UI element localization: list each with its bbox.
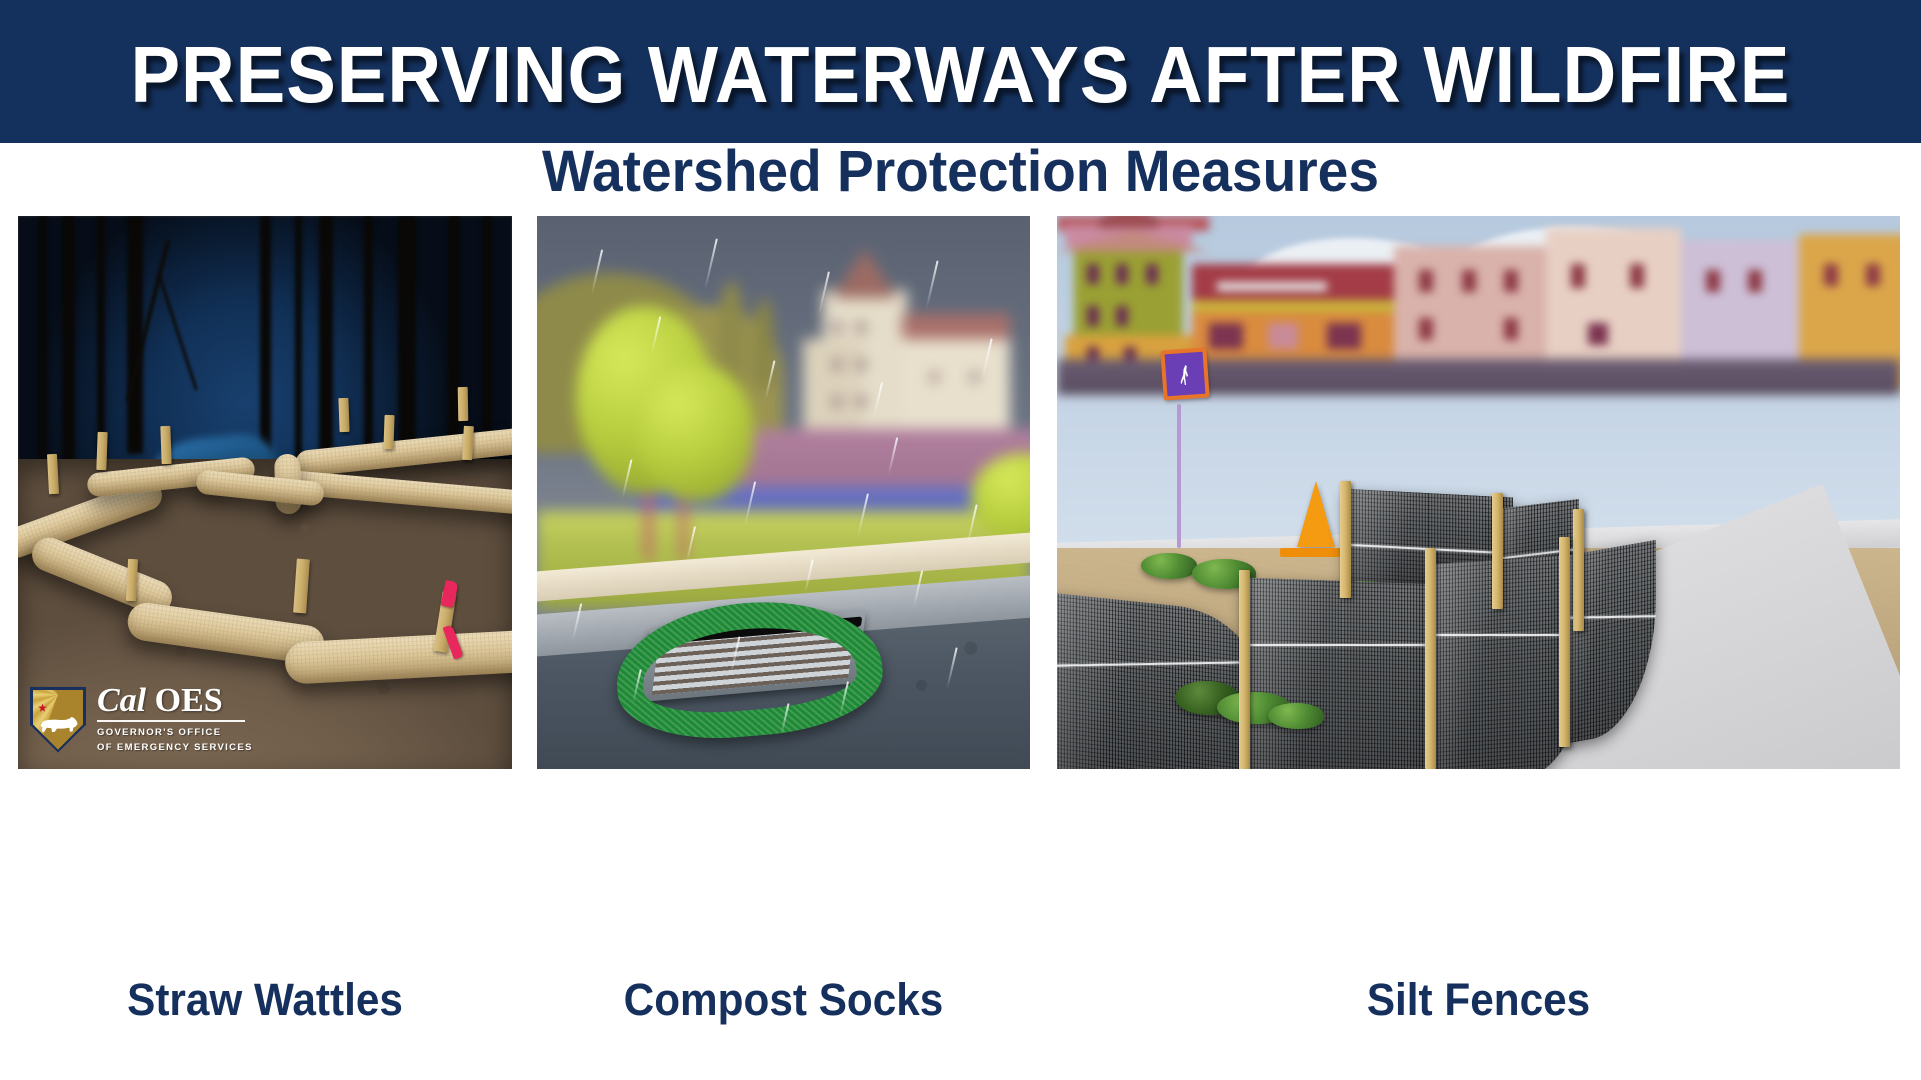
window bbox=[1706, 270, 1720, 292]
tree-trunk bbox=[260, 216, 271, 470]
panel-straw-wattles: Cal OES GOVERNOR'S OFFICE OF EMERGENCY S… bbox=[18, 216, 512, 769]
window bbox=[1504, 270, 1518, 292]
tree-trunk bbox=[38, 216, 47, 470]
wattle-stake bbox=[96, 431, 107, 469]
panel-compost-socks bbox=[537, 216, 1030, 769]
silt-fence-panel bbox=[1428, 554, 1580, 769]
fence-stake bbox=[1573, 509, 1584, 631]
window bbox=[1571, 264, 1585, 288]
window bbox=[1462, 270, 1476, 292]
tree-trunk bbox=[364, 216, 373, 459]
logo-wordmark-cal: Cal bbox=[97, 682, 146, 719]
fence-stake bbox=[1340, 481, 1351, 597]
conifer bbox=[754, 298, 774, 388]
window bbox=[1209, 323, 1243, 349]
window bbox=[971, 372, 978, 382]
logo-wordmark-oes: OES bbox=[155, 682, 223, 719]
fence-stake bbox=[1425, 548, 1436, 769]
logo-wordmark: Cal OES bbox=[97, 684, 253, 717]
window bbox=[1268, 323, 1298, 349]
wattle-stake bbox=[47, 454, 59, 494]
logo-tagline-line2: OF EMERGENCY SERVICES bbox=[97, 742, 253, 755]
window bbox=[931, 372, 938, 382]
sign-post bbox=[1177, 404, 1181, 548]
wattle-stake bbox=[383, 415, 394, 449]
sign-board bbox=[1217, 282, 1327, 291]
window bbox=[1116, 264, 1128, 284]
building-turret bbox=[1099, 216, 1158, 228]
tree-trunk bbox=[482, 216, 492, 459]
tree-trunk bbox=[127, 216, 143, 454]
window bbox=[1116, 306, 1128, 326]
wattle-stake bbox=[126, 559, 138, 601]
window bbox=[1327, 323, 1361, 349]
window bbox=[857, 322, 865, 333]
wattle-stake bbox=[462, 426, 474, 460]
window bbox=[1504, 318, 1518, 340]
header-banner: PRESERVING WATERWAYS AFTER WILDFIRE bbox=[0, 0, 1921, 143]
roof bbox=[833, 249, 897, 298]
window bbox=[1087, 264, 1099, 284]
page-title: PRESERVING WATERWAYS AFTER WILDFIRE bbox=[131, 29, 1791, 115]
illustration-straw-wattles: Cal OES GOVERNOR'S OFFICE OF EMERGENCY S… bbox=[18, 216, 512, 769]
building bbox=[803, 339, 862, 441]
tree-trunk bbox=[319, 216, 333, 476]
wattle-stake bbox=[161, 426, 172, 464]
window bbox=[833, 322, 841, 333]
illustration-compost-socks bbox=[537, 216, 1030, 769]
tree-trunk bbox=[97, 216, 105, 459]
shrub bbox=[1268, 703, 1324, 729]
window bbox=[1146, 264, 1158, 284]
window bbox=[1824, 264, 1838, 286]
wattle-stake bbox=[339, 398, 350, 432]
window bbox=[1087, 306, 1099, 326]
window bbox=[1419, 270, 1433, 292]
pedestrian-crossing-sign bbox=[1161, 347, 1210, 400]
cal-oes-logo: Cal OES GOVERNOR'S OFFICE OF EMERGENCY S… bbox=[30, 684, 253, 755]
illustration-silt-fences bbox=[1057, 216, 1900, 769]
fence-stake bbox=[1559, 537, 1570, 747]
tree-trunk bbox=[448, 216, 460, 465]
window bbox=[833, 359, 841, 370]
window bbox=[1748, 270, 1762, 292]
door bbox=[1588, 323, 1608, 345]
roof bbox=[902, 314, 1010, 339]
shrub bbox=[1141, 553, 1197, 579]
logo-tagline-line1: GOVERNOR'S OFFICE bbox=[97, 727, 253, 740]
window bbox=[1419, 318, 1433, 340]
pedestrian-icon bbox=[1181, 364, 1190, 385]
tree-trunk bbox=[62, 216, 75, 481]
caption-compost-socks: Compost Socks bbox=[552, 975, 1015, 1025]
infographic-page: PRESERVING WATERWAYS AFTER WILDFIRE Wate… bbox=[0, 0, 1921, 1080]
caption-silt-fences: Silt Fences bbox=[1082, 975, 1874, 1025]
caption-straw-wattles: Straw Wattles bbox=[33, 975, 497, 1025]
california-shield-icon bbox=[30, 687, 86, 753]
window bbox=[1630, 264, 1644, 288]
tree-trunk bbox=[398, 216, 416, 470]
building bbox=[902, 331, 1010, 437]
window bbox=[1866, 264, 1880, 286]
awning bbox=[1192, 300, 1394, 312]
window bbox=[857, 396, 865, 407]
traffic-cone-base bbox=[1280, 548, 1342, 557]
silt-fence-panel bbox=[1242, 577, 1444, 769]
window bbox=[857, 359, 865, 370]
logo-divider bbox=[97, 720, 245, 722]
caption-row: Straw Wattles Compost Socks Silt Fences bbox=[0, 975, 1921, 1045]
wattle-stake bbox=[457, 387, 468, 421]
tree-crown bbox=[636, 363, 754, 502]
fence-stake bbox=[1492, 493, 1503, 609]
window bbox=[833, 396, 841, 407]
silt-fence-panel bbox=[1057, 592, 1259, 769]
traffic-cone bbox=[1297, 481, 1335, 547]
tree-trunk bbox=[295, 216, 302, 465]
subtitle: Watershed Protection Measures bbox=[48, 140, 1873, 204]
fence-stake bbox=[1239, 570, 1250, 769]
panel-silt-fences bbox=[1057, 216, 1900, 769]
panel-row: Cal OES GOVERNOR'S OFFICE OF EMERGENCY S… bbox=[0, 216, 1921, 769]
